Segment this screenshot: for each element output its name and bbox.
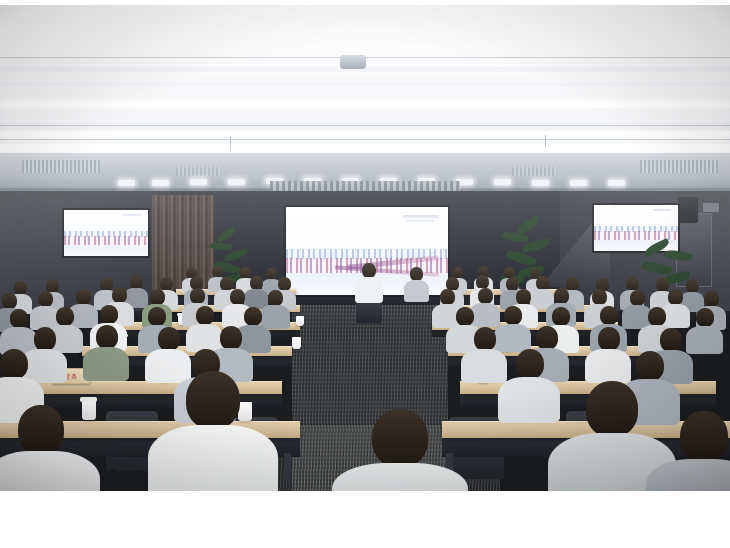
recessed-downlight bbox=[228, 179, 245, 185]
screen-logo bbox=[403, 215, 439, 218]
ceiling-light-strip bbox=[0, 101, 730, 108]
wall-sign bbox=[703, 203, 719, 212]
hvac-vent bbox=[176, 167, 220, 176]
screen-river bbox=[64, 245, 148, 256]
ceiling-rod bbox=[230, 137, 231, 151]
hvac-vent bbox=[512, 167, 556, 176]
recessed-downlight bbox=[118, 180, 135, 186]
left-led-screen[interactable] bbox=[64, 210, 148, 256]
recessed-downlight bbox=[152, 180, 169, 186]
tea-cup bbox=[238, 402, 252, 421]
tea-cup bbox=[82, 401, 96, 420]
screen-logo-sub bbox=[406, 220, 434, 222]
screen-city-near bbox=[64, 236, 148, 245]
smoke-detector bbox=[340, 55, 366, 69]
conference-room-photograph: 委员 常务 bbox=[0, 5, 730, 491]
hvac-vent bbox=[22, 160, 100, 173]
ceiling-light-strip bbox=[0, 131, 730, 137]
ceiling-light-strip bbox=[0, 83, 730, 86]
desk-leg bbox=[284, 453, 291, 481]
tea-cup bbox=[296, 316, 304, 326]
ceiling-light-strip bbox=[0, 144, 730, 153]
recessed-downlight bbox=[608, 180, 625, 186]
cup-lid bbox=[80, 397, 97, 402]
window-curtain bbox=[152, 195, 214, 290]
ceiling-seam bbox=[0, 125, 730, 126]
chair-caster bbox=[110, 469, 117, 476]
hvac-vent bbox=[640, 160, 718, 173]
tea-cup bbox=[292, 337, 301, 349]
ceiling-seam bbox=[0, 139, 730, 140]
recessed-downlight bbox=[570, 180, 587, 186]
ceiling-rod bbox=[545, 135, 546, 147]
screen-logo bbox=[123, 214, 141, 216]
recessed-downlight bbox=[190, 179, 207, 185]
wall-speaker-icon bbox=[678, 197, 698, 223]
recessed-downlight bbox=[532, 180, 549, 186]
recessed-downlight bbox=[494, 179, 511, 185]
screen-logo bbox=[653, 209, 671, 211]
ceiling-light-strip bbox=[0, 117, 730, 121]
